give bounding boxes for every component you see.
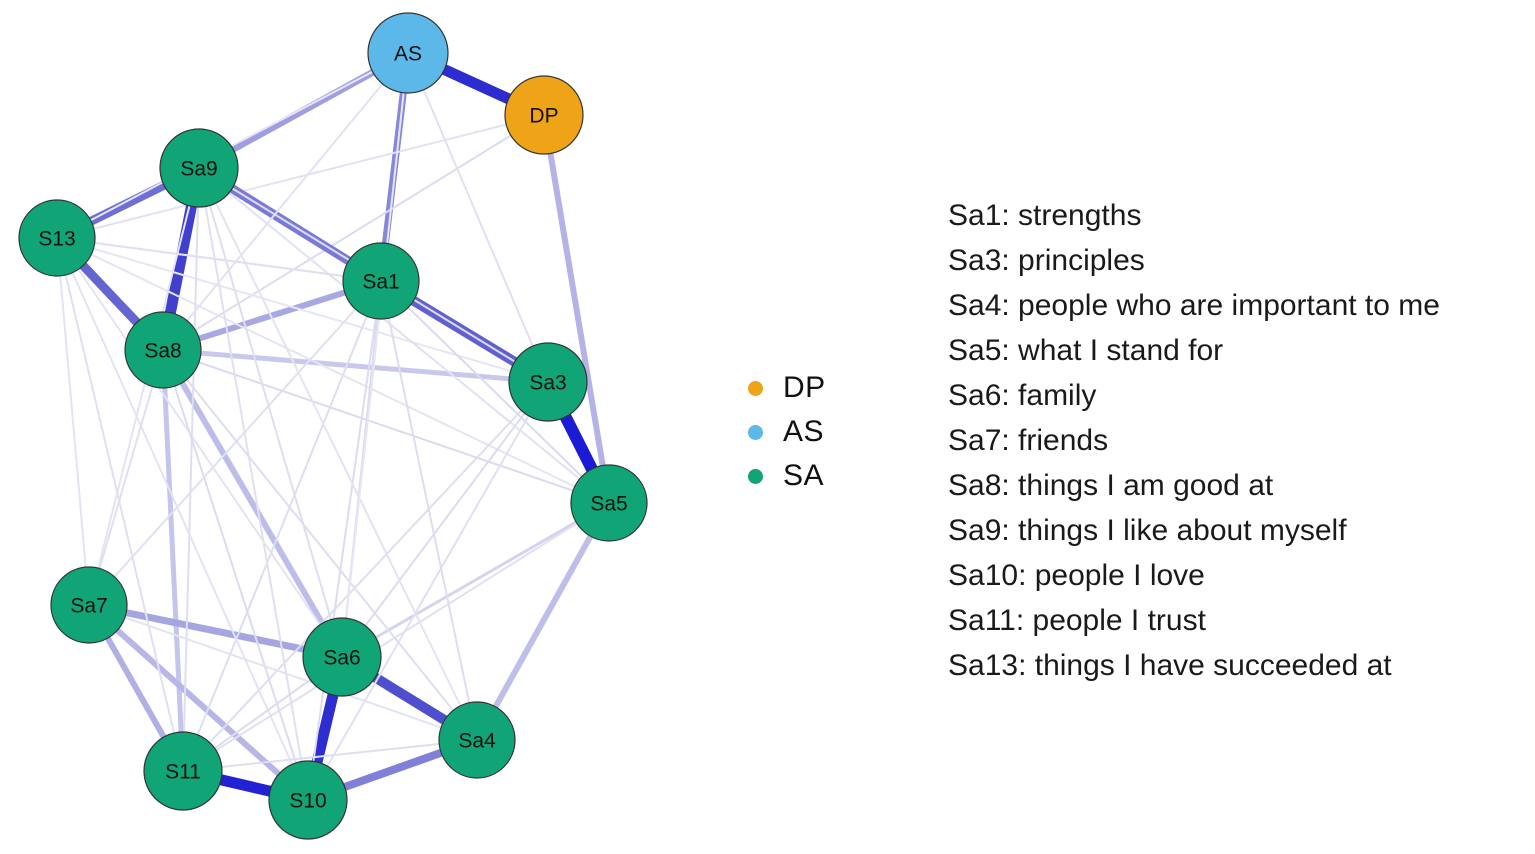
network-graph: ASDPSa9S13Sa1Sa8Sa3Sa5Sa7Sa6Sa4S11S10	[0, 0, 700, 854]
network-edge	[163, 350, 183, 771]
key-list-item: Sa6: family	[948, 373, 1528, 418]
network-node[interactable]: Sa6	[303, 618, 381, 696]
network-node[interactable]: S11	[144, 732, 222, 810]
network-edge	[308, 281, 381, 800]
node-circle[interactable]	[144, 732, 222, 810]
key-list-item: Sa4: people who are important to me	[948, 283, 1528, 328]
legend-dot-icon	[748, 469, 763, 484]
legend-item-dp[interactable]: DP	[748, 366, 888, 410]
network-node[interactable]: Sa3	[509, 343, 587, 421]
legend-dot-icon	[748, 425, 763, 440]
network-edge	[57, 238, 89, 605]
network-node[interactable]: Sa5	[571, 465, 647, 541]
network-node[interactable]: Sa4	[439, 702, 515, 778]
network-node[interactable]: Sa8	[125, 312, 201, 388]
key-list-item: Sa10: people I love	[948, 553, 1528, 598]
legend-label: AS	[783, 417, 824, 447]
legend-item-sa[interactable]: SA	[748, 454, 888, 498]
key-list-item: Sa8: things I am good at	[948, 463, 1528, 508]
key-list-item: Sa13: things I have succeeded at	[948, 643, 1528, 688]
node-circle[interactable]	[571, 465, 647, 541]
node-circle[interactable]	[51, 567, 127, 643]
figure-root: ASDPSa9S13Sa1Sa8Sa3Sa5Sa7Sa6Sa4S11S10 DP…	[0, 0, 1535, 854]
node-circle[interactable]	[125, 312, 201, 388]
key-list-item: Sa7: friends	[948, 418, 1528, 463]
legend-label: SA	[783, 461, 824, 491]
group-legend: DPASSA	[748, 366, 888, 498]
node-circle[interactable]	[343, 243, 419, 319]
key-list-item: Sa9: things I like about myself	[948, 508, 1528, 553]
network-edge	[89, 350, 163, 605]
network-node[interactable]: Sa1	[343, 243, 419, 319]
network-node[interactable]: S10	[269, 761, 347, 839]
network-node[interactable]: Sa7	[51, 567, 127, 643]
abbreviation-key-list: Sa1: strengthsSa3: principlesSa4: people…	[948, 193, 1528, 688]
network-edge	[381, 281, 477, 740]
network-node[interactable]: AS	[368, 13, 448, 93]
node-circle[interactable]	[439, 702, 515, 778]
key-list-item: Sa1: strengths	[948, 193, 1528, 238]
node-circle[interactable]	[303, 618, 381, 696]
node-circle[interactable]	[269, 761, 347, 839]
node-circle[interactable]	[19, 200, 95, 276]
network-node[interactable]: S13	[19, 200, 95, 276]
key-list-item: Sa5: what I stand for	[948, 328, 1528, 373]
network-node[interactable]: DP	[505, 76, 583, 154]
legend-item-as[interactable]: AS	[748, 410, 888, 454]
node-circle[interactable]	[160, 129, 238, 207]
network-node[interactable]: Sa9	[160, 129, 238, 207]
legend-dot-icon	[748, 381, 763, 396]
node-circle[interactable]	[505, 76, 583, 154]
network-edge	[477, 503, 609, 740]
network-edge	[57, 53, 408, 238]
node-circle[interactable]	[509, 343, 587, 421]
key-list-item: Sa11: people I trust	[948, 598, 1528, 643]
legend-label: DP	[783, 373, 826, 403]
key-list-item: Sa3: principles	[948, 238, 1528, 283]
network-edge	[57, 115, 544, 238]
node-circle[interactable]	[368, 13, 448, 93]
